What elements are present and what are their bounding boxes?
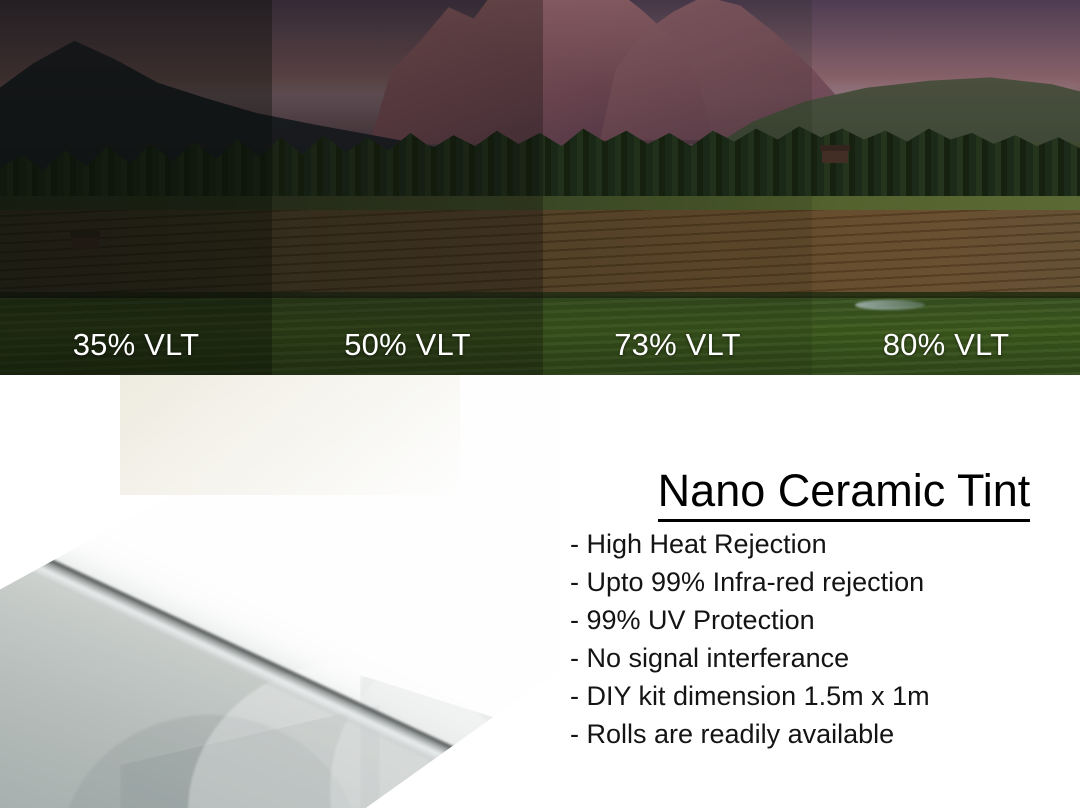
vlt-label-80: 80% VLT bbox=[812, 327, 1080, 363]
tint-film-roll-photo bbox=[0, 375, 560, 808]
feature-list: - High Heat Rejection - Upto 99% Infra-r… bbox=[570, 531, 1080, 759]
product-title: Nano Ceramic Tint bbox=[608, 465, 1080, 522]
tint-product-infographic: 35% VLT 50% VLT 73% VLT 80% VLT Nan bbox=[0, 0, 1080, 808]
product-copy: Nano Ceramic Tint - High Heat Rejection … bbox=[560, 375, 1080, 808]
tint-strip-73: 73% VLT bbox=[543, 0, 812, 375]
vlt-label-35: 35% VLT bbox=[0, 327, 272, 363]
feature-item: - 99% UV Protection bbox=[570, 607, 1080, 634]
tint-strip-35: 35% VLT bbox=[0, 0, 272, 375]
tint-strip-80: 80% VLT bbox=[812, 0, 1080, 375]
vlt-label-50: 50% VLT bbox=[272, 327, 543, 363]
feature-item: - High Heat Rejection bbox=[570, 531, 1080, 558]
tint-strip-50: 50% VLT bbox=[272, 0, 543, 375]
vlt-comparison-photo: 35% VLT 50% VLT 73% VLT 80% VLT bbox=[0, 0, 1080, 375]
film-cream-tint bbox=[120, 375, 460, 495]
product-title-text: Nano Ceramic Tint bbox=[658, 465, 1031, 522]
product-section: Nano Ceramic Tint - High Heat Rejection … bbox=[0, 375, 1080, 808]
feature-item: - Rolls are readily available bbox=[570, 721, 1080, 748]
feature-item: - No signal interferance bbox=[570, 645, 1080, 672]
vlt-label-73: 73% VLT bbox=[543, 327, 812, 363]
feature-item: - Upto 99% Infra-red rejection bbox=[570, 569, 1080, 596]
feature-item: - DIY kit dimension 1.5m x 1m bbox=[570, 683, 1080, 710]
